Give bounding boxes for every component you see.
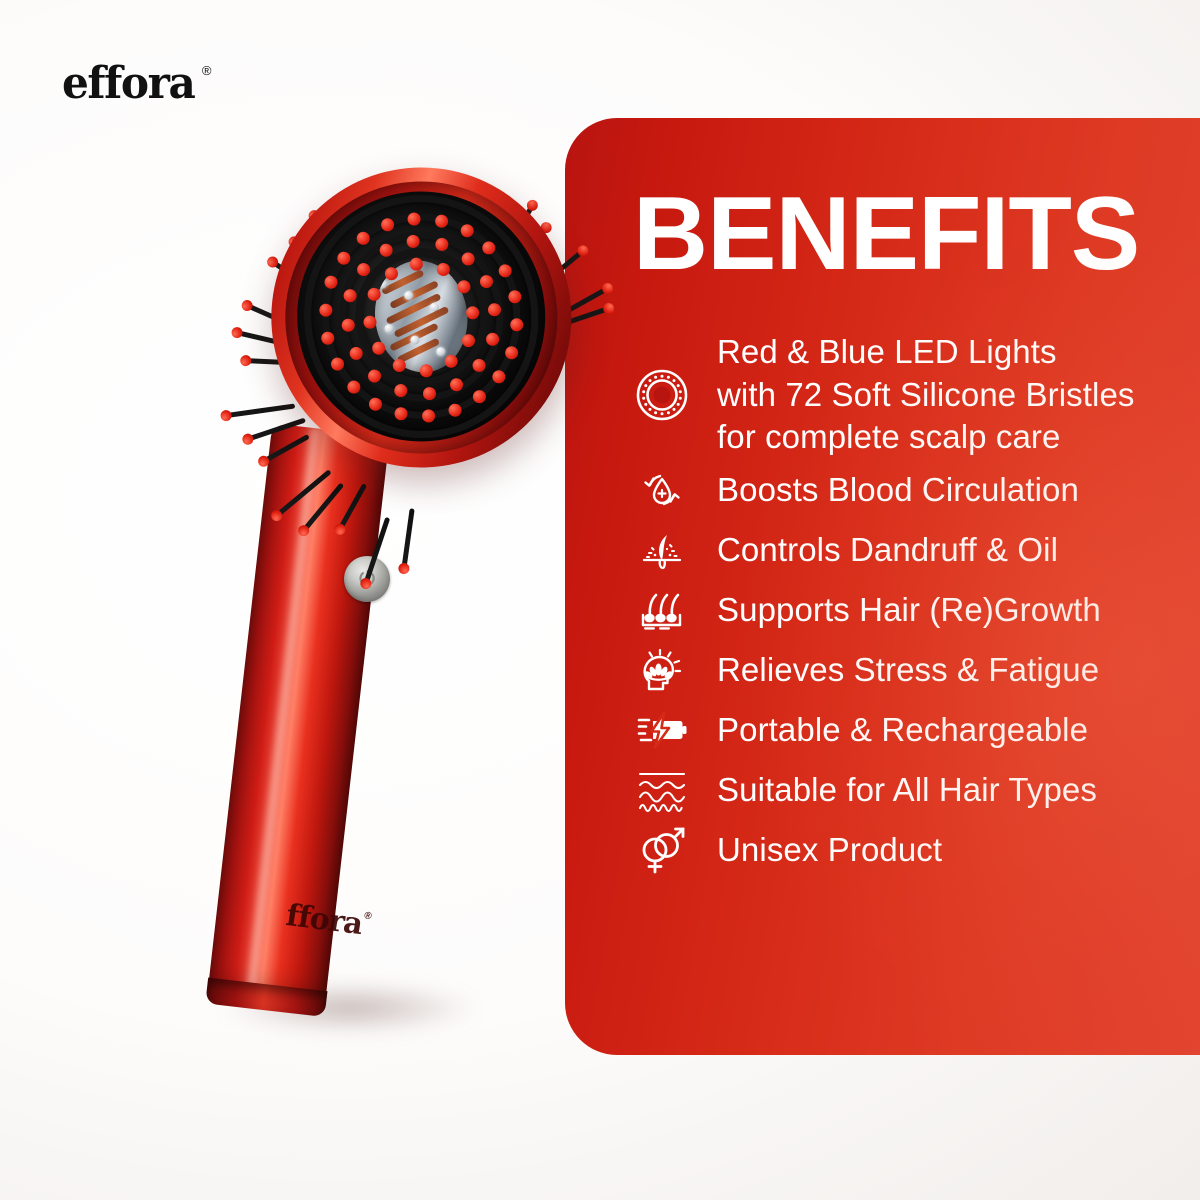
brush-bristles xyxy=(216,127,572,177)
benefit-item-unisex: Unisex Product xyxy=(633,820,1193,880)
bristle-tips xyxy=(216,127,572,177)
benefit-item-led-lights: Red & Blue LED Lights with 72 Soft Silic… xyxy=(633,330,1193,460)
brush-head-rim xyxy=(268,164,575,471)
power-button[interactable] xyxy=(342,554,393,605)
handle-highlight xyxy=(242,427,323,1005)
blood-drop-circulation-icon xyxy=(633,461,691,519)
brand-logo: effora ® xyxy=(62,62,211,106)
benefit-label: Boosts Blood Circulation xyxy=(717,469,1079,512)
product-benefits-graphic: effora ® ffora ® xyxy=(0,0,1200,1200)
brush-head-face xyxy=(281,175,561,457)
brush-head xyxy=(216,127,621,519)
benefit-label: Controls Dandruff & Oil xyxy=(717,529,1058,572)
handle-brand-name: ffora xyxy=(284,901,364,940)
venus-mars-icon xyxy=(633,821,691,879)
benefit-label: Supports Hair (Re)Growth xyxy=(717,589,1101,632)
benefit-item-stress-relief: Relieves Stress & Fatigue xyxy=(633,640,1193,700)
benefit-item-hair-growth: Supports Hair (Re)Growth xyxy=(633,580,1193,640)
hair-types-waves-icon xyxy=(633,761,691,819)
led-core xyxy=(368,255,475,379)
benefit-item-dandruff-oil: Controls Dandruff & Oil xyxy=(633,520,1193,580)
benefit-label: Red & Blue LED Lights with 72 Soft Silic… xyxy=(717,331,1135,460)
head-lotus-relax-icon xyxy=(633,641,691,699)
benefit-item-rechargeable: Portable & Rechargeable xyxy=(633,700,1193,760)
handle-base xyxy=(205,978,327,1017)
handle-brand-logo: ffora ® xyxy=(284,901,372,941)
power-icon xyxy=(355,567,379,591)
registered-trademark-icon: ® xyxy=(202,64,212,77)
benefit-label: Suitable for All Hair Types xyxy=(717,769,1097,812)
benefit-item-hair-types: Suitable for All Hair Types xyxy=(633,760,1193,820)
benefit-label: Unisex Product xyxy=(717,829,942,872)
benefits-list: Red & Blue LED Lights with 72 Soft Silic… xyxy=(633,330,1193,880)
hair-follicle-flakes-icon xyxy=(633,521,691,579)
hair-growth-follicles-icon xyxy=(633,581,691,639)
benefit-item-blood-circulation: Boosts Blood Circulation xyxy=(633,460,1193,520)
benefit-label: Relieves Stress & Fatigue xyxy=(717,649,1099,692)
led-ring-icon xyxy=(633,366,691,424)
brush-head-body xyxy=(252,148,591,487)
battery-bolt-icon xyxy=(633,701,691,759)
brand-name: effora xyxy=(62,62,194,106)
benefit-label: Portable & Rechargeable xyxy=(717,709,1088,752)
page-title: BENEFITS xyxy=(633,182,1139,286)
handle-registered-trademark-icon: ® xyxy=(363,911,371,922)
product-handle xyxy=(207,423,390,1013)
benefits-panel: BENEFITS xyxy=(565,118,1200,1055)
product-shadow xyxy=(185,975,515,1041)
product-image: ffora ® xyxy=(0,0,620,1100)
